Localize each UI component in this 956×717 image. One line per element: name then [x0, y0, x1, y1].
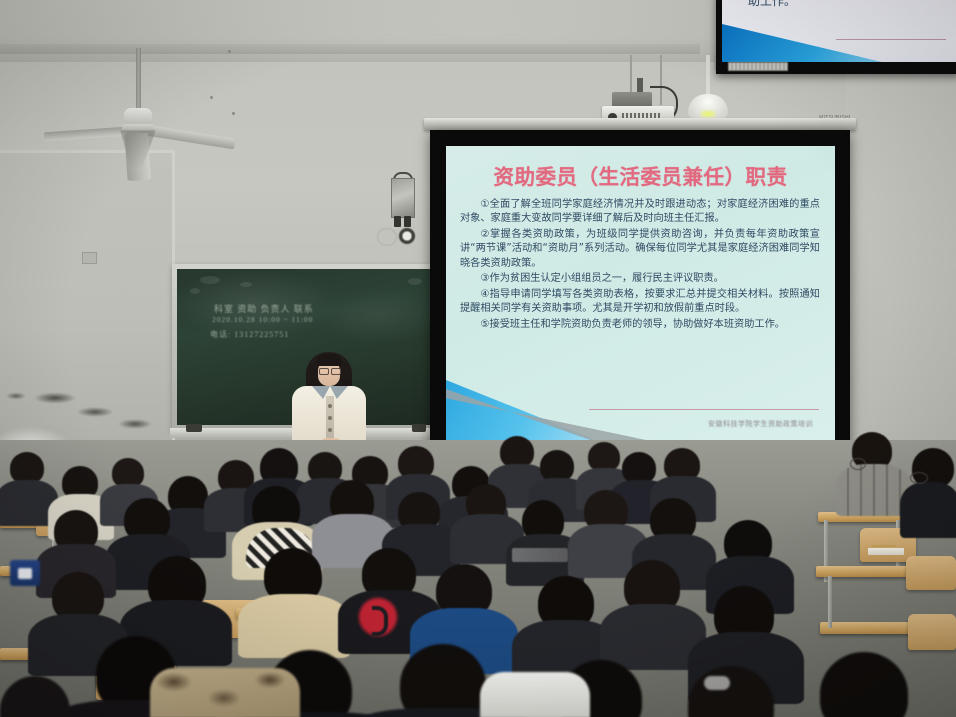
monitor-slide-text: 助工作。	[748, 0, 796, 9]
slide-title: 资助委员（生活委员兼任）职责	[446, 160, 835, 190]
presenter-glasses	[319, 368, 329, 375]
student-shoulders	[900, 482, 956, 538]
presentation-slide: 资助委员（生活委员兼任）职责 ①全面了解全班同学家庭经济情况并及时跟进动态；对家…	[446, 146, 835, 440]
student-desk	[820, 622, 916, 634]
monitor-accent-triangle	[722, 24, 882, 62]
ceiling-beam	[0, 44, 700, 54]
blackboard-eraser[interactable]	[412, 424, 426, 432]
ceiling-fan-rod	[136, 48, 141, 110]
ceiling-speck	[210, 96, 213, 99]
slide-paragraph: ④指导申请同学填写各类资助表格，按要求汇总并提交相关材料。按照通知提醒相关同学有…	[460, 288, 820, 317]
notebook	[868, 548, 904, 555]
slide-footer: 安徽科技学院学生资助政策培训	[708, 419, 813, 429]
presenter-glasses	[331, 368, 341, 375]
wall-monitor-screen: 助工作。	[722, 0, 956, 62]
student-hoodie-text	[512, 548, 568, 562]
chair-back	[908, 614, 956, 650]
student-jacket-letter	[372, 606, 388, 636]
student-shoulders	[238, 594, 350, 658]
chalk-smudge	[408, 278, 422, 285]
presenter-button	[328, 404, 332, 408]
classroom-photo: MITSUBISHI 科室 资助 负责人 联系 2020.10.28 10:00…	[0, 0, 956, 717]
blackboard-eraser[interactable]	[186, 424, 202, 432]
chalk-smudge	[200, 276, 220, 284]
chalk-smudge	[190, 288, 200, 294]
student-glasses	[850, 458, 866, 470]
student-white-shirt	[480, 672, 590, 717]
wall-speaker	[391, 178, 415, 218]
wall-speaker-knob[interactable]	[394, 216, 401, 227]
student-shoulders	[836, 464, 910, 516]
wall-speaker-knob[interactable]	[404, 216, 411, 227]
presenter-fringe	[316, 354, 342, 366]
wall-plate	[377, 228, 397, 246]
slide-body: ①全面了解全班同学家庭经济情况并及时跟进动态；对家庭经济困难的重点对象、家庭重大…	[460, 198, 820, 333]
wall-outlet	[82, 252, 97, 264]
student-camo-jacket	[150, 668, 300, 717]
slide-paragraph: ⑤接受班主任和学院资助负责老师的领导，协助做好本班资助工作。	[460, 318, 820, 332]
ceiling-speck	[228, 50, 231, 53]
slide-paragraph: ③作为贫困生认定小组组员之一，履行民主评议职责。	[460, 272, 820, 286]
pen	[872, 545, 896, 547]
projection-screen-housing	[424, 118, 856, 130]
slide-paragraph: ②掌握各类资助政策，为班级同学提供资助咨询，并负责每年资助政策宣讲“两节课”活动…	[460, 228, 820, 271]
chalk-smudge	[240, 282, 252, 287]
desk-leg	[828, 576, 832, 628]
right-wall	[846, 60, 956, 460]
student-head	[400, 644, 486, 717]
blackboard-handwriting-line: 2020.10.28 10:00 ~ 11:00	[212, 315, 313, 324]
chair-back	[906, 556, 956, 590]
ceiling-light-glow	[700, 110, 716, 118]
wall-speaker-dial[interactable]	[399, 228, 415, 244]
blackboard-handwriting-line: 电话: 13127225751	[210, 329, 289, 340]
blackboard-handwriting-line: 科室 资助 负责人 联系	[214, 302, 314, 315]
student-glasses	[910, 472, 928, 484]
student-hair-clip	[704, 676, 730, 690]
ceiling-speck	[232, 112, 235, 115]
ceiling-light-rod	[706, 55, 710, 97]
presenter-button	[328, 416, 332, 420]
slide-paragraph: ①全面了解全班同学家庭经济情况并及时跟进动态；对家庭经济困难的重点对象、家庭重大…	[460, 198, 820, 227]
monitor-divider	[836, 39, 946, 40]
presenter-button	[328, 428, 332, 432]
slide-divider	[589, 409, 819, 410]
bag-logo	[18, 568, 32, 579]
monitor-mount	[728, 62, 788, 71]
